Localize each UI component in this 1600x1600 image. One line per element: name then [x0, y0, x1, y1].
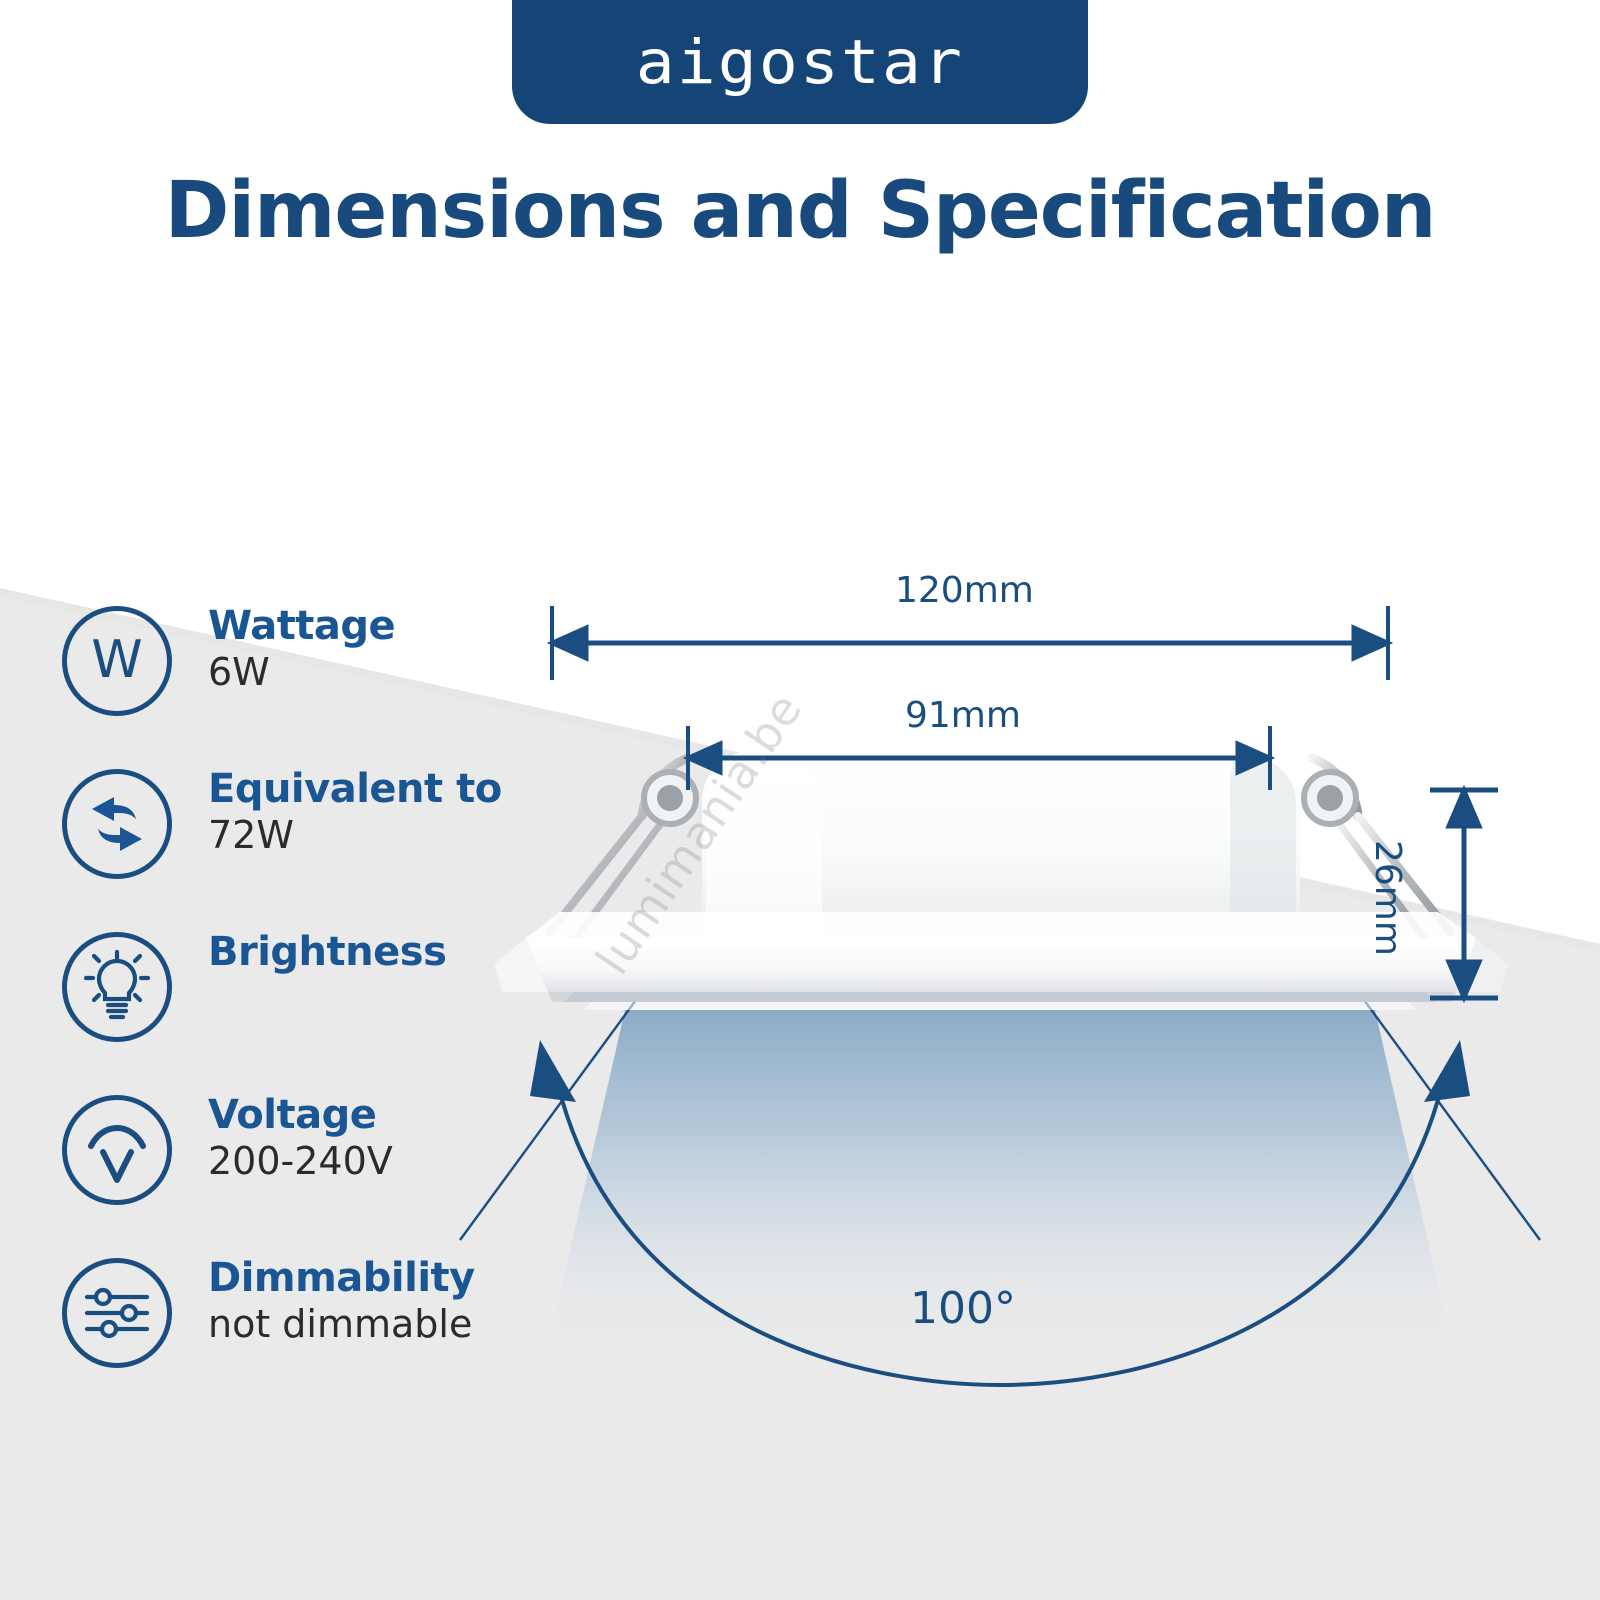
spec-row-equivalent: Equivalent to 72W [62, 763, 532, 926]
spec-row-brightness: Brightness [62, 926, 532, 1089]
spec-text-wattage: Wattage 6W [208, 600, 395, 696]
equivalent-arrows-icon [62, 769, 172, 879]
dimension-label-outer-width: 120mm [895, 570, 1034, 611]
spec-value-voltage: 200-240V [208, 1138, 393, 1185]
wattage-icon: W [62, 606, 172, 716]
spec-row-voltage: Voltage 200-240V [62, 1089, 532, 1252]
dimension-outer-width [548, 606, 1392, 680]
brand-logo-text: aigostar [636, 27, 964, 98]
dimmability-sliders-icon [62, 1258, 172, 1368]
downlight-flange [494, 912, 1508, 1002]
spec-label-dimmability: Dimmability [208, 1256, 475, 1301]
spec-text-brightness: Brightness [208, 926, 446, 985]
spec-row-wattage: W Wattage 6W [62, 600, 532, 763]
spec-value-brightness [208, 975, 446, 985]
dimension-label-cutout-width: 91mm [905, 695, 1021, 736]
brand-logo-banner: aigostar [512, 0, 1088, 124]
spec-text-equivalent: Equivalent to 72W [208, 763, 502, 859]
product-dimension-diagram [430, 540, 1570, 1400]
page-title: Dimensions and Specification [0, 166, 1600, 256]
spec-row-dimmability: Dimmability not dimmable [62, 1252, 532, 1415]
spec-value-wattage: 6W [208, 649, 395, 696]
spec-text-dimmability: Dimmability not dimmable [208, 1252, 475, 1348]
downlight-body [702, 748, 1300, 938]
svg-text:W: W [91, 630, 142, 690]
spec-value-equivalent: 72W [208, 812, 502, 859]
specification-list: W Wattage 6W Equivalent to 72W [62, 600, 532, 1415]
spec-label-voltage: Voltage [208, 1093, 393, 1138]
dimension-label-height: 26mm [1367, 840, 1408, 956]
spring-clip-left [550, 758, 696, 938]
spec-label-brightness: Brightness [208, 930, 446, 975]
spec-label-wattage: Wattage [208, 604, 395, 649]
beam-angle-label: 100° [910, 1283, 1016, 1334]
spec-label-equivalent: Equivalent to [208, 767, 502, 812]
spec-value-dimmability: not dimmable [208, 1301, 475, 1348]
voltage-icon [62, 1095, 172, 1205]
brightness-bulb-icon [62, 932, 172, 1042]
spec-text-voltage: Voltage 200-240V [208, 1089, 393, 1185]
infographic-page: aigostar Dimensions and Specification [0, 0, 1600, 1600]
